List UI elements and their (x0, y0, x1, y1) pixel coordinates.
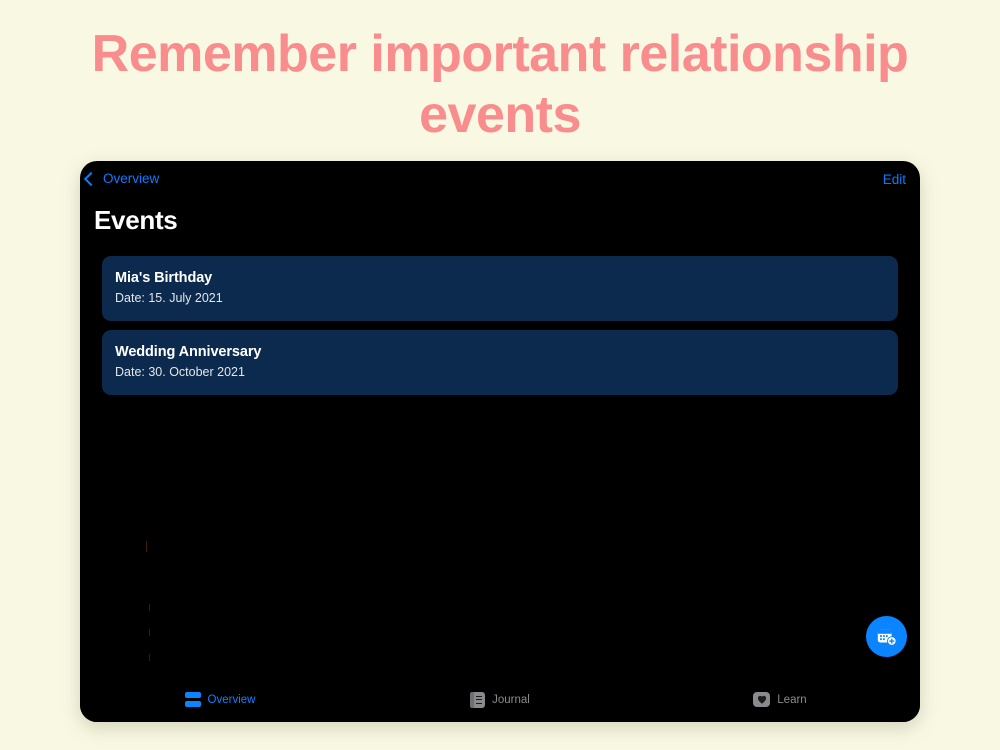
tab-overview[interactable]: Overview (80, 692, 360, 707)
overview-icon (185, 692, 201, 707)
event-date: Date: 30. October 2021 (115, 365, 885, 379)
learn-heart-icon (753, 692, 770, 707)
calendar-add-icon (876, 626, 898, 648)
journal-icon (470, 692, 485, 708)
add-event-fab[interactable] (866, 616, 907, 657)
event-list-item[interactable]: Mia's Birthday Date: 15. July 2021 (102, 256, 898, 321)
event-name: Mia's Birthday (115, 270, 885, 286)
tab-learn-label: Learn (777, 694, 806, 706)
heart-glyph (757, 695, 767, 704)
page-title: Events (80, 203, 920, 236)
navigation-bar: Overview Edit (80, 161, 920, 203)
tab-journal-label: Journal (492, 694, 530, 706)
event-date: Date: 15. July 2021 (115, 291, 885, 305)
back-button-label: Overview (103, 171, 159, 186)
tab-journal[interactable]: Journal (360, 692, 640, 708)
device-frame: Overview Edit Events Mia's Birthday Date… (80, 161, 920, 722)
event-list-item[interactable]: Wedding Anniversary Date: 30. October 20… (102, 330, 898, 395)
page-headline: Remember important relationship events (60, 24, 940, 147)
tab-bar: Overview Journal (80, 677, 920, 722)
chevron-left-icon (84, 171, 98, 185)
event-name: Wedding Anniversary (115, 344, 885, 360)
tab-overview-label: Overview (208, 694, 256, 706)
edit-button[interactable]: Edit (883, 172, 906, 187)
tab-learn[interactable]: Learn (640, 692, 920, 707)
event-list: Mia's Birthday Date: 15. July 2021 Weddi… (80, 256, 920, 395)
back-button-overview[interactable]: Overview (86, 171, 159, 186)
